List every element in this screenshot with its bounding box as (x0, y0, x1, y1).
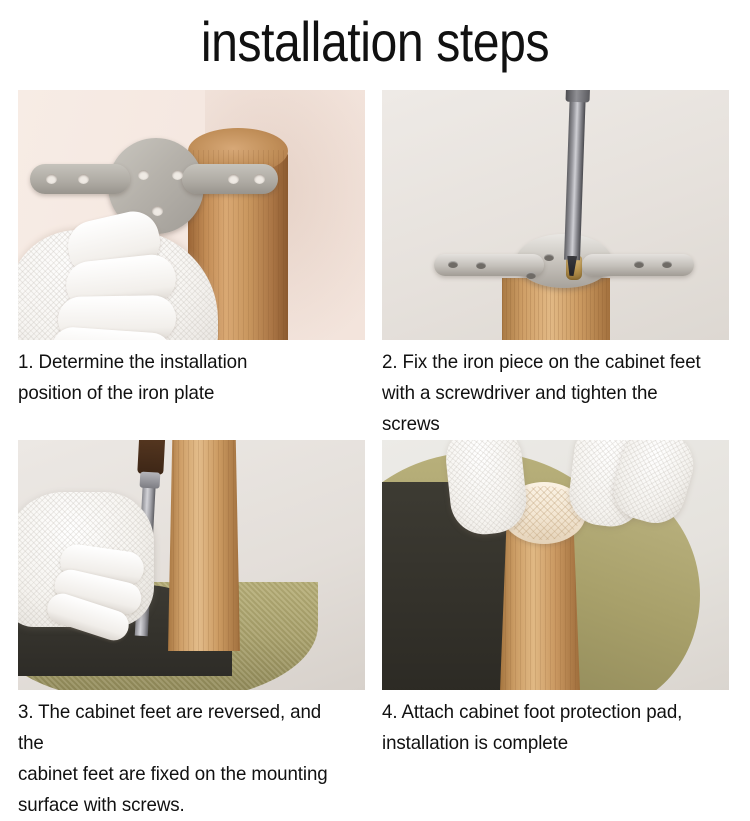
page-title: installation steps (53, 4, 698, 80)
plate-hole (476, 262, 486, 269)
plate-hole (228, 174, 239, 184)
step-3-photo-attach-leg-to-stool (18, 440, 365, 690)
plate-hole (78, 174, 89, 184)
plate-hole (172, 170, 183, 180)
steps-row-bottom: 3. The cabinet feet are reversed, and th… (18, 440, 742, 821)
step-card-2: 2. Fix the iron piece on the cabinet fee… (382, 90, 729, 440)
wooden-leg (500, 526, 580, 690)
plate-hole (138, 170, 149, 180)
step-2-caption: 2. Fix the iron piece on the cabinet fee… (382, 340, 715, 440)
step-4-photo-protection-pad (382, 440, 729, 690)
step-2-photo-screw-plate (382, 90, 729, 340)
plate-hole (544, 254, 554, 261)
wood-grain (500, 526, 580, 690)
step-4-caption: 4. Attach cabinet foot protection pad, i… (382, 690, 715, 759)
plate-hole (254, 174, 265, 184)
wooden-leg (168, 440, 240, 651)
steps-row-top: 1. Determine the installation position o… (18, 90, 742, 440)
step-card-4: 4. Attach cabinet foot protection pad, i… (382, 440, 729, 821)
step-card-3: 3. The cabinet feet are reversed, and th… (18, 440, 365, 821)
white-gloved-hand (18, 492, 154, 627)
screwdriver-collar (140, 472, 161, 489)
plate-hole (46, 174, 57, 184)
plate-hole (448, 261, 458, 268)
step-card-1: 1. Determine the installation position o… (18, 90, 365, 440)
screwdriver-handle (137, 440, 165, 475)
metal-mounting-plate (42, 138, 262, 218)
screwdriver-handle (566, 90, 591, 102)
plate-hole (526, 272, 536, 279)
plate-hole (152, 206, 163, 216)
step-1-caption: 1. Determine the installation position o… (18, 340, 351, 409)
screwdriver (564, 90, 586, 260)
step-3-caption: 3. The cabinet feet are reversed, and th… (18, 690, 351, 821)
step-1-photo-iron-plate-position (18, 90, 365, 340)
metal-mounting-plate (438, 238, 678, 288)
plate-hole (634, 261, 644, 268)
wood-grain (168, 440, 240, 651)
plate-hole (662, 261, 672, 268)
installation-steps-grid: 1. Determine the installation position o… (18, 90, 742, 821)
